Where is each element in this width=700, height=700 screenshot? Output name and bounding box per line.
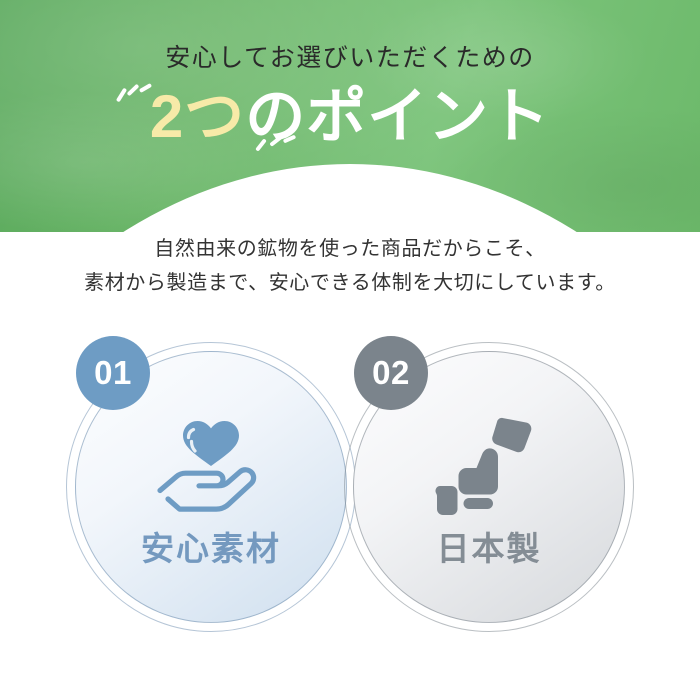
japan-map-icon bbox=[430, 410, 548, 522]
lead-line-1: 自然由来の鉱物を使った商品だからこそ、 bbox=[0, 232, 700, 266]
promo-banner: 安心してお選びいただくための 2つのポイント 自然由来の鉱物を使った商品だからこ… bbox=[0, 0, 700, 700]
feature-circle-group: 安心素材 01 日本製 02 bbox=[0, 330, 700, 660]
hero-title-wrapper: 2つのポイント bbox=[0, 87, 700, 147]
hero-title-accent: 2つ bbox=[150, 83, 245, 150]
hero-section: 安心してお選びいただくための 2つのポイント bbox=[0, 0, 700, 232]
lead-paragraph: 自然由来の鉱物を使った商品だからこそ、 素材から製造まで、安心できる体制を大切に… bbox=[0, 232, 700, 300]
sparkle-icon bbox=[126, 84, 139, 97]
feature-circle-02: 日本製 02 bbox=[344, 342, 634, 632]
feature-number-badge-01: 01 bbox=[76, 336, 150, 410]
sparkle-icon bbox=[116, 88, 127, 103]
hero-bottom-arc bbox=[0, 164, 700, 232]
hero-title: 2つのポイント bbox=[150, 87, 550, 147]
feature-label-01: 安心素材 bbox=[141, 532, 281, 565]
heart-in-hand-icon bbox=[152, 410, 270, 522]
lead-line-2: 素材から製造まで、安心できる体制を大切にしています。 bbox=[0, 266, 700, 300]
hero-subtitle: 安心してお選びいただくための bbox=[0, 46, 700, 71]
feature-number-badge-02: 02 bbox=[354, 336, 428, 410]
feature-label-02: 日本製 bbox=[437, 532, 542, 565]
feature-circle-01: 安心素材 01 bbox=[66, 342, 356, 632]
